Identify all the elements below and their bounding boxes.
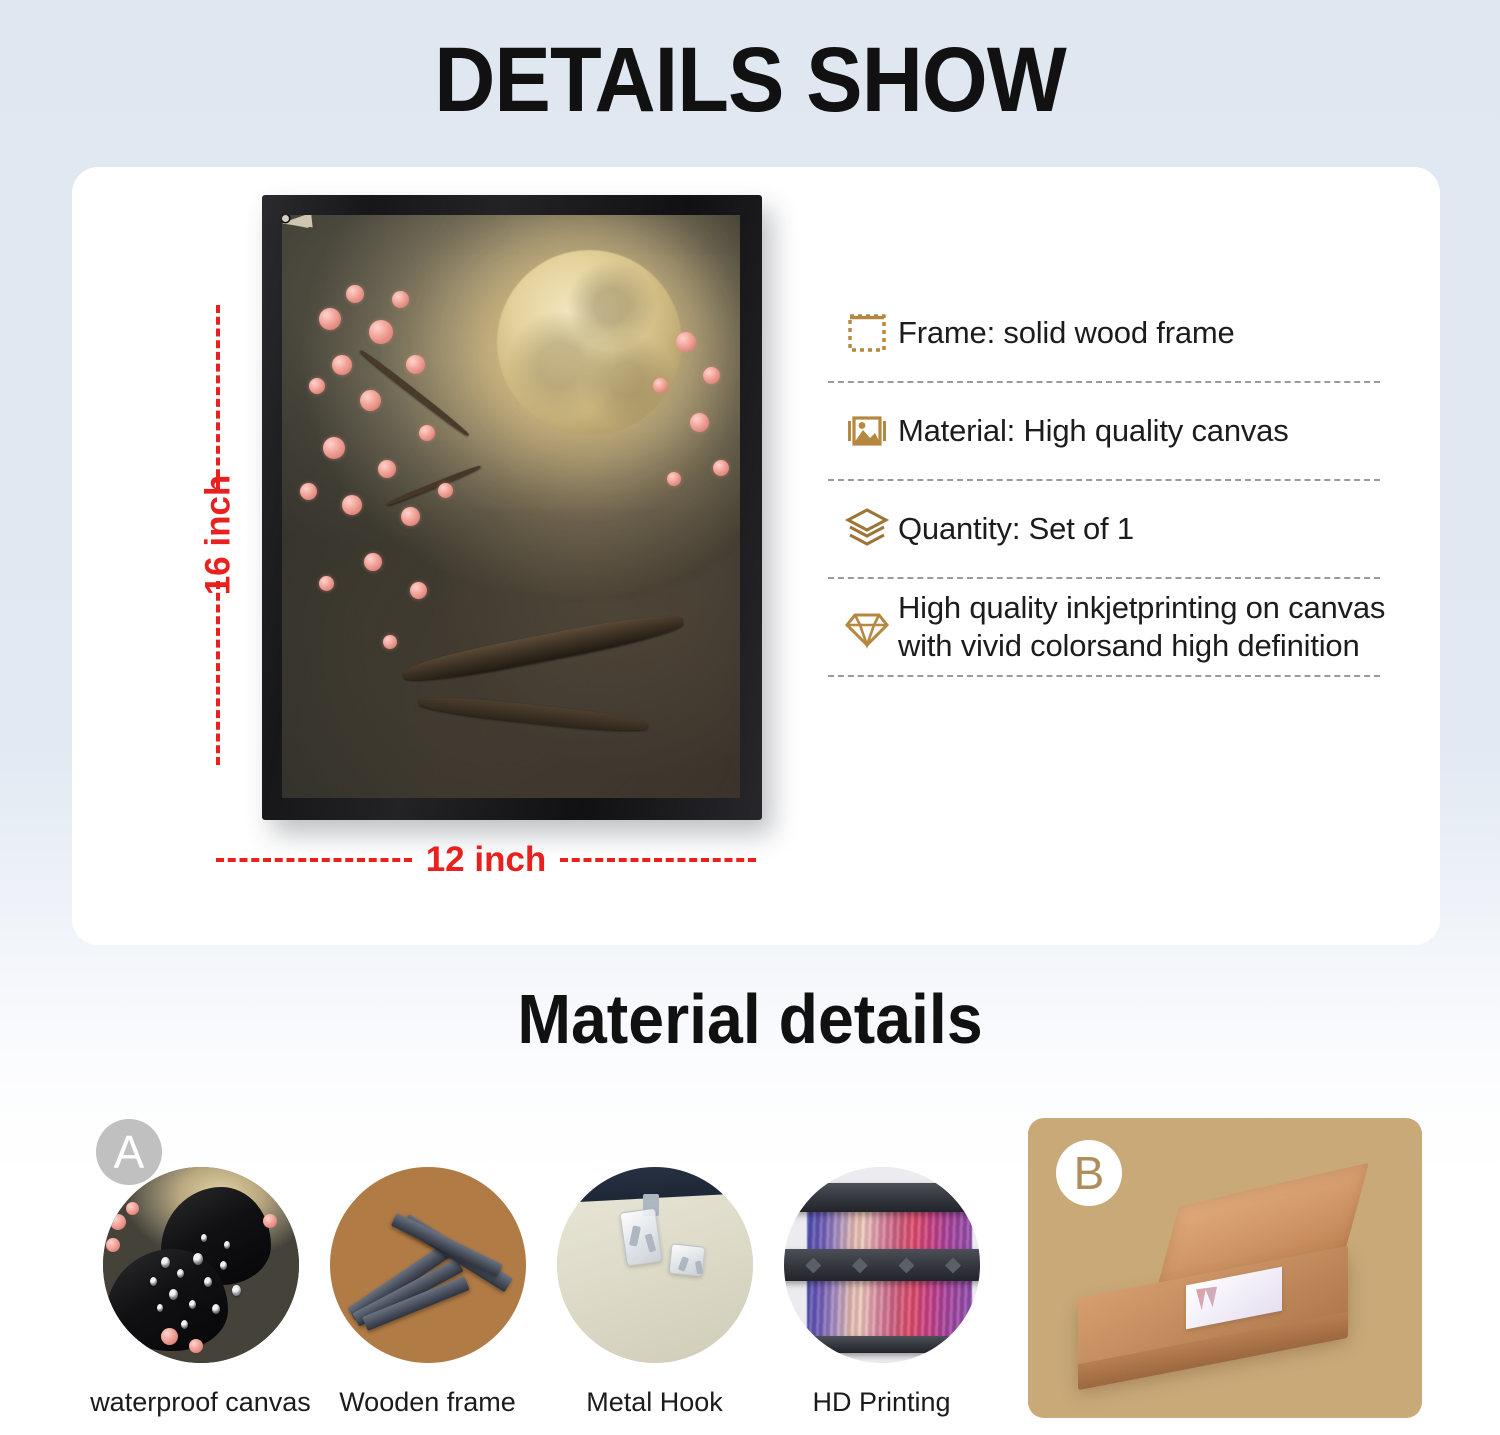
blossom	[690, 413, 709, 432]
thumbnail-label: Metal Hook	[586, 1387, 723, 1418]
blossom	[378, 460, 396, 478]
dimension-dash-line	[216, 581, 220, 765]
artwork-scene	[282, 215, 740, 798]
feature-label: Frame: solid wood frame	[898, 314, 1235, 352]
water-droplet	[232, 1285, 241, 1296]
framed-artwork-block: 16 inch 12 inch	[192, 185, 772, 885]
large-format-printer-thumb[interactable]	[784, 1167, 980, 1363]
thumbnail-item[interactable]: Metal Hook	[552, 1167, 757, 1418]
feature-item-quantity: Quantity: Set of 1	[814, 481, 1386, 577]
thumbnail-label: HD Printing	[812, 1387, 950, 1418]
water-droplet	[193, 1253, 203, 1265]
feature-label: High quality inkjetprinting on canvas wi…	[898, 589, 1386, 665]
water-droplet	[169, 1289, 178, 1300]
dimension-dash-line	[216, 305, 220, 489]
height-dimension: 16 inch	[190, 305, 246, 765]
moon-icon	[497, 250, 682, 435]
water-droplet	[181, 1320, 188, 1329]
canvas-artwork	[282, 215, 740, 798]
picture-icon	[836, 409, 898, 453]
thumbnail-label: waterproof canvas	[90, 1387, 311, 1418]
thumbnail-label: Wooden frame	[339, 1387, 516, 1418]
section-title: Material details	[60, 977, 1440, 1061]
thumbnail-item[interactable]: Wooden frame	[325, 1167, 530, 1418]
thumbnail-item[interactable]: HD Printing	[779, 1167, 984, 1418]
feature-label: Material: High quality canvas	[898, 412, 1289, 450]
feature-list: Frame: solid wood frame Material: High q…	[814, 285, 1386, 677]
printer-base	[784, 1336, 980, 1354]
blossom	[676, 332, 696, 352]
blossom	[360, 390, 381, 411]
feature-item-printing: High quality inkjetprinting on canvas wi…	[814, 579, 1386, 675]
dashed-frame-icon	[836, 311, 898, 355]
packaging-panel: B	[1028, 1118, 1422, 1418]
material-thumbnails-panel: A	[80, 1105, 1000, 1425]
blossom	[667, 472, 681, 486]
diamond-icon	[836, 603, 898, 651]
blossom	[342, 495, 362, 515]
printer-top-rail	[784, 1183, 980, 1212]
feature-item-frame: Frame: solid wood frame	[814, 285, 1386, 381]
layers-icon	[836, 505, 898, 553]
feature-separator	[828, 675, 1380, 677]
feature-label: Quantity: Set of 1	[898, 510, 1134, 548]
blossom	[406, 355, 425, 374]
blossom	[438, 483, 453, 498]
blossom	[106, 1238, 120, 1252]
details-card: 16 inch 12 inch Frame: solid wood frame	[72, 167, 1440, 945]
blossom	[161, 1328, 178, 1345]
water-droplet	[201, 1234, 207, 1242]
water-droplet	[177, 1269, 184, 1278]
blossom	[392, 291, 409, 308]
blossom	[319, 308, 341, 330]
thumbnail-item[interactable]: waterproof canvas	[98, 1167, 303, 1418]
width-dimension: 12 inch	[216, 835, 756, 885]
hardware-bag	[620, 1208, 663, 1266]
water-droplet	[189, 1300, 196, 1309]
water-droplet	[150, 1277, 157, 1286]
page-title: DETAILS SHOW	[60, 30, 1440, 130]
blossom	[323, 437, 345, 459]
blossom	[703, 367, 720, 384]
frame-moulding-thumb[interactable]	[330, 1167, 526, 1363]
canvas-droplets-thumb[interactable]	[103, 1167, 299, 1363]
blossom	[383, 635, 397, 649]
picture-frame	[262, 195, 762, 820]
dimension-dash-line	[216, 858, 412, 862]
blossom	[401, 507, 420, 526]
blossom	[369, 320, 393, 344]
thumbnail-row: waterproof canvas Wooden frame	[98, 1167, 998, 1418]
dimension-dash-line	[560, 858, 756, 862]
packaging-box	[1068, 1180, 1388, 1395]
printer-carriage	[784, 1249, 980, 1280]
blossom	[713, 460, 729, 476]
hardware-bags-thumb[interactable]	[557, 1167, 753, 1363]
height-dimension-label: 16 inch	[172, 475, 264, 596]
width-dimension-label: 12 inch	[412, 840, 561, 880]
feature-item-material: Material: High quality canvas	[814, 383, 1386, 479]
blossom	[346, 285, 364, 303]
